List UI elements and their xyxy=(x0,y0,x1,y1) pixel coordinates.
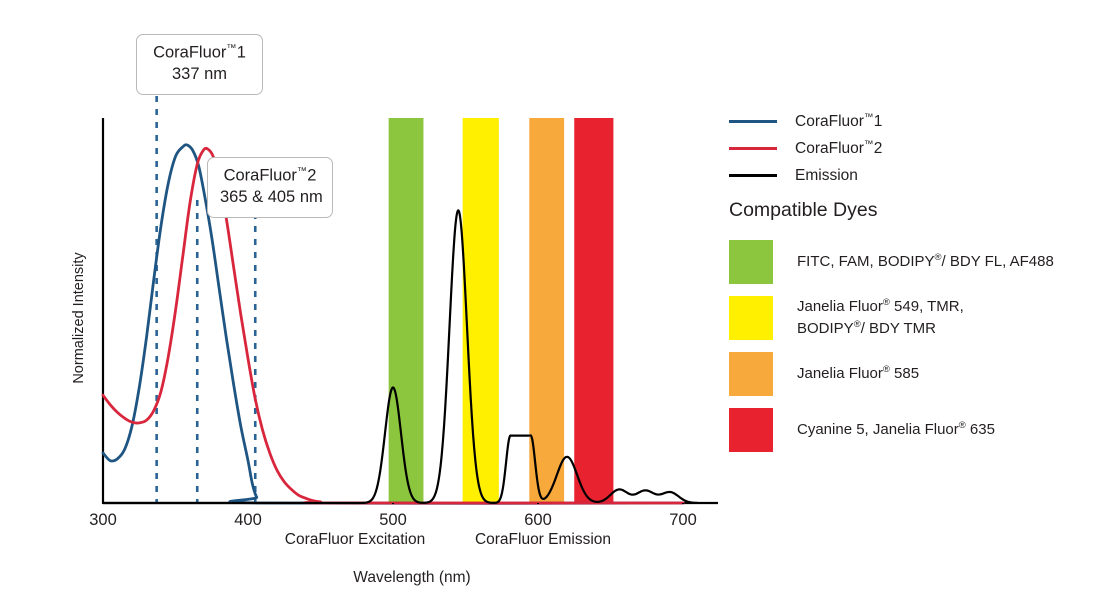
callout-corafluor1-value: 337 nm xyxy=(149,64,250,86)
dye-item-0: FITC, FAM, BODIPY®/ BDY FL, AF488 xyxy=(729,240,1099,284)
x-tick-label: 300 xyxy=(89,511,117,529)
x-tick-label: 700 xyxy=(669,511,697,529)
dye-color-swatch xyxy=(729,408,773,452)
x-tick-label: 600 xyxy=(524,511,552,529)
callout-corafluor1-title: CoraFluor™1 xyxy=(149,42,250,64)
yellow-band xyxy=(463,118,499,503)
callout-corafluor1: CoraFluor™1 337 nm xyxy=(136,34,263,95)
dye-item-label: Cyanine 5, Janelia Fluor® 635 xyxy=(797,419,995,441)
trademark-icon: ™ xyxy=(226,43,236,54)
compatible-dyes-list: FITC, FAM, BODIPY®/ BDY FL, AF488Janelia… xyxy=(729,240,1099,452)
dye-item-1: Janelia Fluor® 549, TMR,BODIPY®/ BDY TMR xyxy=(729,296,1099,340)
callout-corafluor2-title: CoraFluor™2 xyxy=(220,165,320,187)
dye-item-2: Janelia Fluor® 585 xyxy=(729,352,1099,396)
dye-color-swatch xyxy=(729,240,773,284)
registered-icon: ® xyxy=(935,252,942,263)
legend-item-0: CoraFluor™1 xyxy=(729,108,882,135)
legend-line-swatch xyxy=(729,120,777,123)
registered-icon: ® xyxy=(883,364,890,375)
legend-item-label: CoraFluor™2 xyxy=(795,139,882,158)
chart-legend: CoraFluor™1CoraFluor™2Emission xyxy=(729,108,882,189)
dye-item-label: FITC, FAM, BODIPY®/ BDY FL, AF488 xyxy=(797,251,1054,273)
dye-color-swatch xyxy=(729,352,773,396)
trademark-icon: ™ xyxy=(864,112,874,123)
legend-item-label: Emission xyxy=(795,167,858,185)
dye-label-line1: Janelia Fluor® 585 xyxy=(797,363,919,385)
dye-color-swatch xyxy=(729,296,773,340)
trademark-icon: ™ xyxy=(864,139,874,150)
registered-icon: ® xyxy=(959,420,966,431)
orange-band xyxy=(529,118,564,503)
chart-bands xyxy=(389,118,614,503)
registered-icon: ® xyxy=(854,319,861,330)
compatible-dyes-heading: Compatible Dyes xyxy=(729,199,1099,222)
dye-label-line2: BODIPY®/ BDY TMR xyxy=(797,318,964,340)
trademark-icon: ™ xyxy=(297,166,307,177)
dye-item-label: Janelia Fluor® 585 xyxy=(797,363,919,385)
dye-label-line1: Cyanine 5, Janelia Fluor® 635 xyxy=(797,419,995,441)
legend-item-2: Emission xyxy=(729,162,882,189)
y-axis-title: Normalized Intensity xyxy=(71,252,87,384)
compatible-dyes-panel: Compatible Dyes FITC, FAM, BODIPY®/ BDY … xyxy=(729,199,1099,464)
x-section-label-1: CoraFluor Emission xyxy=(475,531,611,548)
legend-item-1: CoraFluor™2 xyxy=(729,135,882,162)
dye-item-3: Cyanine 5, Janelia Fluor® 635 xyxy=(729,408,1099,452)
legend-line-swatch xyxy=(729,147,777,150)
dye-label-line1: FITC, FAM, BODIPY®/ BDY FL, AF488 xyxy=(797,251,1054,273)
x-axis-title: Wavelength (nm) xyxy=(353,569,470,586)
registered-icon: ® xyxy=(883,297,890,308)
dye-label-line1: Janelia Fluor® 549, TMR, xyxy=(797,296,964,318)
red-band xyxy=(574,118,613,503)
x-tick-label: 400 xyxy=(234,511,262,529)
x-tick-label: 500 xyxy=(379,511,407,529)
dye-item-label: Janelia Fluor® 549, TMR,BODIPY®/ BDY TMR xyxy=(797,296,964,339)
legend-item-label: CoraFluor™1 xyxy=(795,112,882,131)
x-section-label-0: CoraFluor Excitation xyxy=(285,531,425,548)
callout-corafluor2-value: 365 & 405 nm xyxy=(220,187,320,209)
legend-line-swatch xyxy=(729,174,777,177)
callout-corafluor2: CoraFluor™2 365 & 405 nm xyxy=(207,157,333,218)
green-band xyxy=(389,118,424,503)
